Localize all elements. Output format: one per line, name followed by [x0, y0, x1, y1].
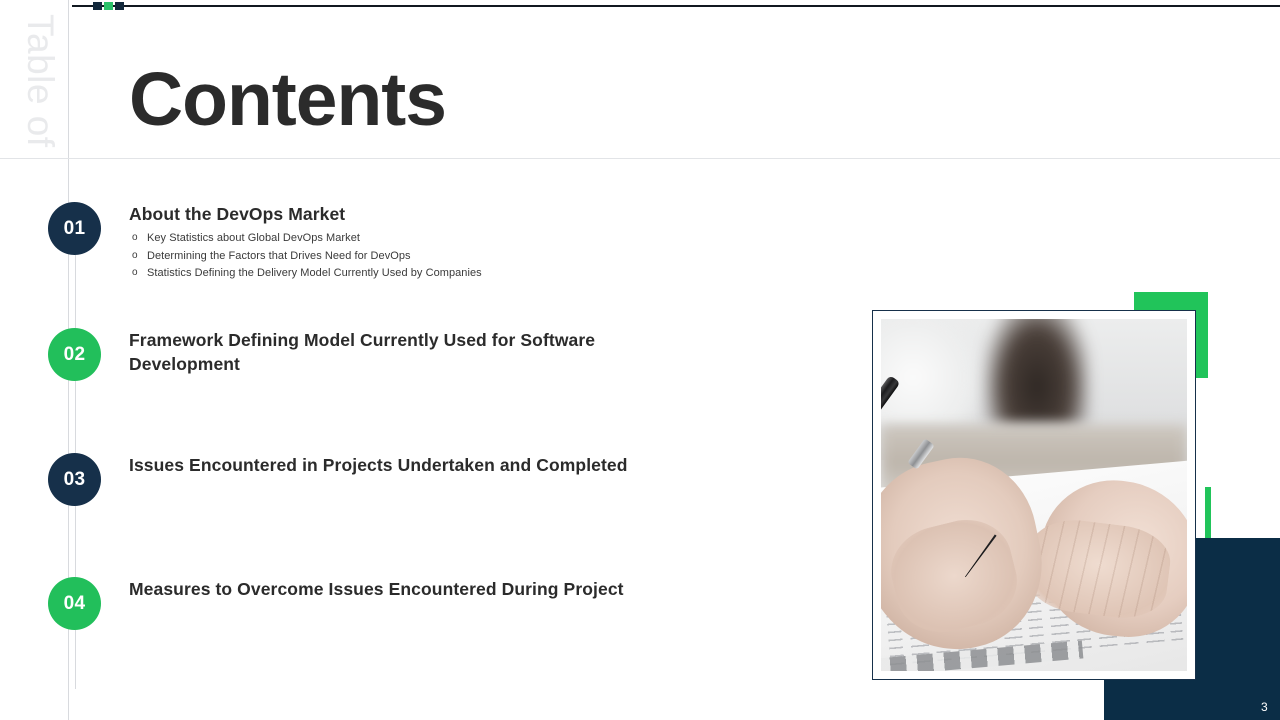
toc-body-04: Measures to Overcome Issues Encountered … [129, 577, 709, 601]
toc-badge-02: 02 [48, 328, 101, 381]
top-rule [72, 5, 1280, 7]
photo-hair-blur [985, 319, 1089, 425]
toc-sub-label: Statistics Defining the Delivery Model C… [147, 267, 482, 279]
photo-frame [872, 310, 1196, 680]
sub-bullet-icon: o [132, 230, 138, 246]
toc-sub-label: Key Statistics about Global DevOps Marke… [147, 232, 360, 244]
toc-badge-01: 01 [48, 202, 101, 255]
toc-body-03: Issues Encountered in Projects Undertake… [129, 453, 709, 477]
sub-bullet-icon: o [132, 248, 138, 264]
toc-connector [75, 505, 76, 583]
toc-sub-item: o Key Statistics about Global DevOps Mar… [129, 230, 709, 247]
header-divider [0, 158, 1280, 159]
toc-connector [75, 380, 76, 458]
toc-body-01: About the DevOps Market o Key Statistics… [129, 202, 709, 282]
top-marker-navy-left-icon [93, 2, 102, 10]
toc-connector [75, 254, 76, 332]
top-marker-green-icon [104, 2, 113, 10]
page-title: Contents [129, 62, 446, 137]
toc-sub-item: o Determining the Factors that Drives Ne… [129, 248, 709, 265]
top-marker-navy-right-icon [115, 2, 124, 10]
green-vertical-bar-accent [1205, 487, 1211, 541]
page-number: 3 [1261, 700, 1268, 714]
photo-shoulder-blur [881, 319, 979, 425]
toc-connector [75, 629, 76, 689]
photo-writing-hands [881, 319, 1187, 671]
toc-sub-item: o Statistics Defining the Delivery Model… [129, 265, 709, 282]
toc-title-02: Framework Defining Model Currently Used … [129, 328, 709, 376]
toc-title-04: Measures to Overcome Issues Encountered … [129, 577, 709, 601]
toc-title-03: Issues Encountered in Projects Undertake… [129, 453, 709, 477]
toc-body-02: Framework Defining Model Currently Used … [129, 328, 709, 376]
toc-title-01: About the DevOps Market [129, 202, 709, 226]
sub-bullet-icon: o [132, 265, 138, 281]
toc-badge-04: 04 [48, 577, 101, 630]
toc-sublist-01: o Key Statistics about Global DevOps Mar… [129, 230, 709, 282]
toc-badge-03: 03 [48, 453, 101, 506]
toc-sub-label: Determining the Factors that Drives Need… [147, 250, 411, 262]
eyebrow-label: Table of [19, 14, 61, 164]
